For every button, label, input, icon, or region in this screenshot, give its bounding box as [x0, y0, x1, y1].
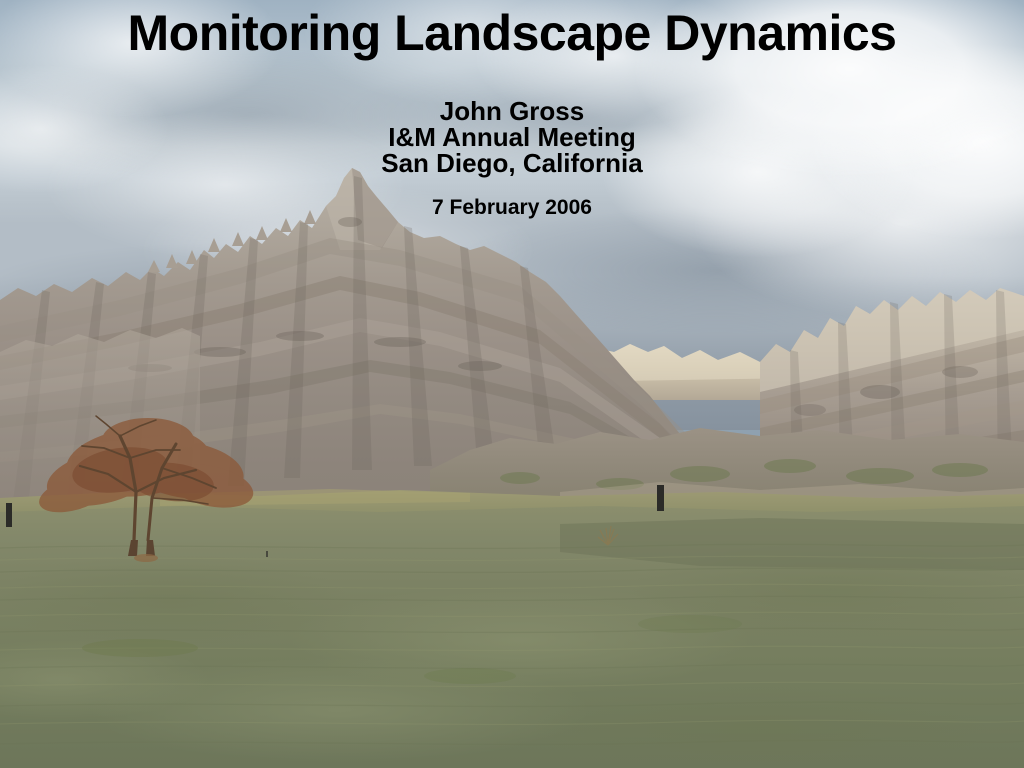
page-title: Monitoring Landscape Dynamics — [0, 8, 1024, 58]
subtitle-block: John Gross I&M Annual Meeting San Diego,… — [0, 98, 1024, 176]
presentation-slide: Monitoring Landscape Dynamics John Gross… — [0, 0, 1024, 768]
presenter-name: John Gross — [0, 98, 1024, 124]
event-name: I&M Annual Meeting — [0, 124, 1024, 150]
slide-text-overlay: Monitoring Landscape Dynamics John Gross… — [0, 0, 1024, 768]
event-date: 7 February 2006 — [0, 196, 1024, 220]
event-location: San Diego, California — [0, 150, 1024, 176]
